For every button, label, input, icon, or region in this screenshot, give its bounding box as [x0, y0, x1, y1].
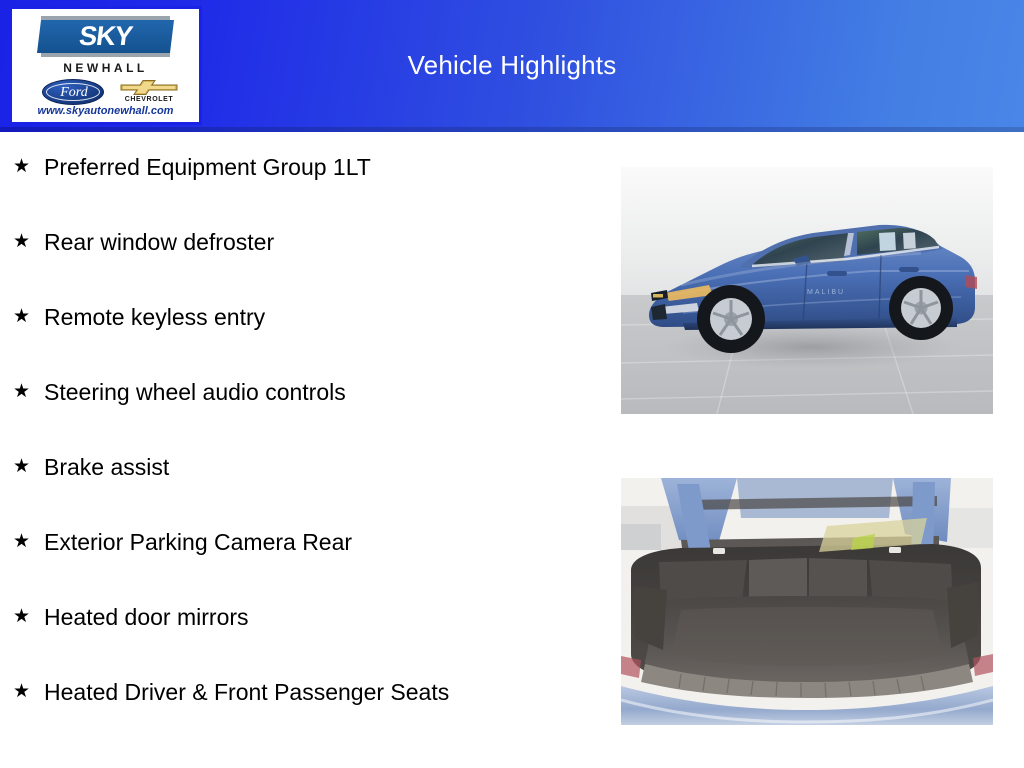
dealer-website-url[interactable]: www.skyautonewhall.com [12, 105, 199, 117]
list-item-label: Heated Driver & Front Passenger Seats [44, 673, 544, 708]
star-bullet-icon: ★ [13, 381, 30, 403]
svg-text:MALIBU: MALIBU [807, 289, 845, 296]
list-item-label: Brake assist [44, 448, 544, 483]
dealer-logo[interactable]: SKY NEWHALL Ford CHEVROLET www.skyautone… [9, 6, 202, 125]
chevrolet-logo-icon: CHEVROLET [118, 77, 180, 107]
list-item-label: Remote keyless entry [44, 298, 544, 333]
star-bullet-icon: ★ [13, 531, 30, 553]
vehicle-highlights-list: ★ Preferred Equipment Group 1LT ★ Rear w… [0, 148, 600, 748]
dealer-location-label: NEWHALL [12, 61, 199, 75]
ford-logo-label: Ford [43, 80, 105, 106]
sky-brand-plate: SKY [39, 16, 172, 57]
vehicle-trunk-photo[interactable] [621, 478, 993, 725]
trunk-illustration [621, 478, 993, 725]
list-item-label: Preferred Equipment Group 1LT [44, 148, 544, 183]
chevrolet-logo-label: CHEVROLET [118, 96, 180, 103]
header-underline [0, 127, 1024, 132]
vehicle-exterior-photo[interactable]: MALIBU [621, 167, 993, 414]
star-bullet-icon: ★ [13, 456, 30, 478]
list-item-label: Exterior Parking Camera Rear [44, 523, 544, 558]
list-item: ★ Preferred Equipment Group 1LT [0, 148, 600, 223]
list-item: ★ Steering wheel audio controls [0, 373, 600, 448]
list-item: ★ Rear window defroster [0, 223, 600, 298]
exterior-car-illustration: MALIBU [621, 167, 993, 414]
ford-logo-icon: Ford [42, 79, 104, 105]
list-item: ★ Heated Driver & Front Passenger Seats [0, 673, 600, 748]
list-item: ★ Exterior Parking Camera Rear [0, 523, 600, 598]
chevrolet-bowtie-icon [120, 79, 178, 96]
list-item: ★ Brake assist [0, 448, 600, 523]
star-bullet-icon: ★ [13, 681, 30, 703]
list-item: ★ Heated door mirrors [0, 598, 600, 673]
sky-plate-bottom-bar [41, 53, 170, 57]
star-bullet-icon: ★ [13, 606, 30, 628]
sky-brand-label: SKY [37, 20, 174, 53]
dealer-logo-inner: SKY NEWHALL Ford CHEVROLET www.skyautone… [12, 9, 199, 122]
star-bullet-icon: ★ [13, 156, 30, 178]
list-item-label: Steering wheel audio controls [44, 373, 544, 408]
list-item-label: Heated door mirrors [44, 598, 544, 633]
star-bullet-icon: ★ [13, 231, 30, 253]
star-bullet-icon: ★ [13, 306, 30, 328]
list-item-label: Rear window defroster [44, 223, 544, 258]
list-item: ★ Remote keyless entry [0, 298, 600, 373]
